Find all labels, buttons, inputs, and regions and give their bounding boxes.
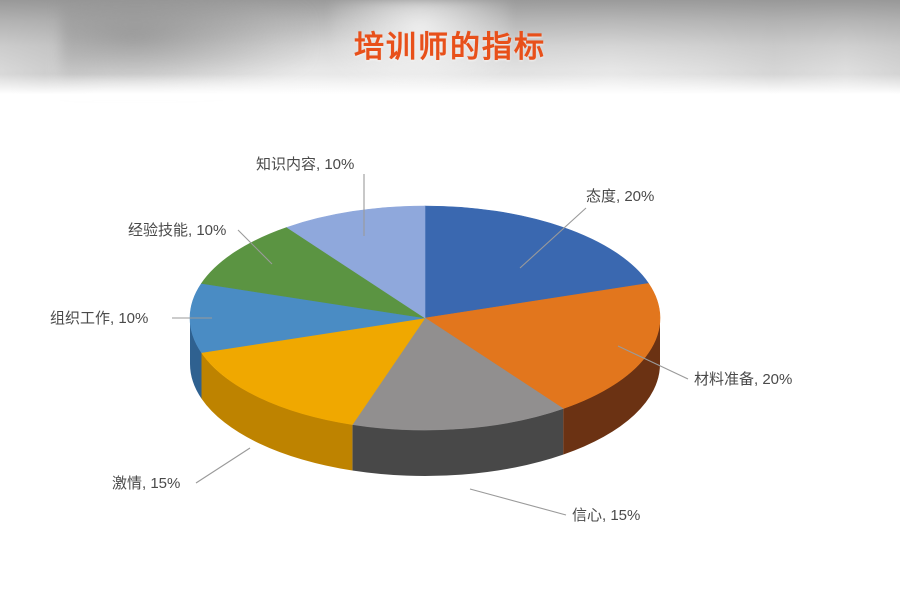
pie-label-信心: 信心, 15% bbox=[572, 507, 640, 524]
pie-chart: 态度, 20%材料准备, 20%信心, 15%激情, 15%组织工作, 10%经… bbox=[0, 96, 900, 597]
slide-canvas: 培训师的指标 态度, 20%材料准备, 20%信心, 15%激情, 15%组织工… bbox=[0, 0, 900, 597]
pie-label-经验技能: 经验技能, 10% bbox=[128, 222, 226, 239]
pie-label-激情: 激情, 15% bbox=[112, 475, 180, 492]
pie-slices bbox=[190, 206, 660, 430]
pie-label-材料准备: 材料准备, 20% bbox=[694, 371, 792, 388]
leader-line-激情 bbox=[196, 448, 250, 483]
pie-label-知识内容: 知识内容, 10% bbox=[256, 156, 354, 173]
pie-chart-svg: 态度, 20%材料准备, 20%信心, 15%激情, 15%组织工作, 10%经… bbox=[0, 96, 900, 597]
leader-line-信心 bbox=[470, 489, 566, 515]
page-title: 培训师的指标 bbox=[0, 22, 900, 66]
pie-label-组织工作: 组织工作, 10% bbox=[50, 310, 148, 327]
pie-label-态度: 态度, 20% bbox=[586, 188, 654, 205]
